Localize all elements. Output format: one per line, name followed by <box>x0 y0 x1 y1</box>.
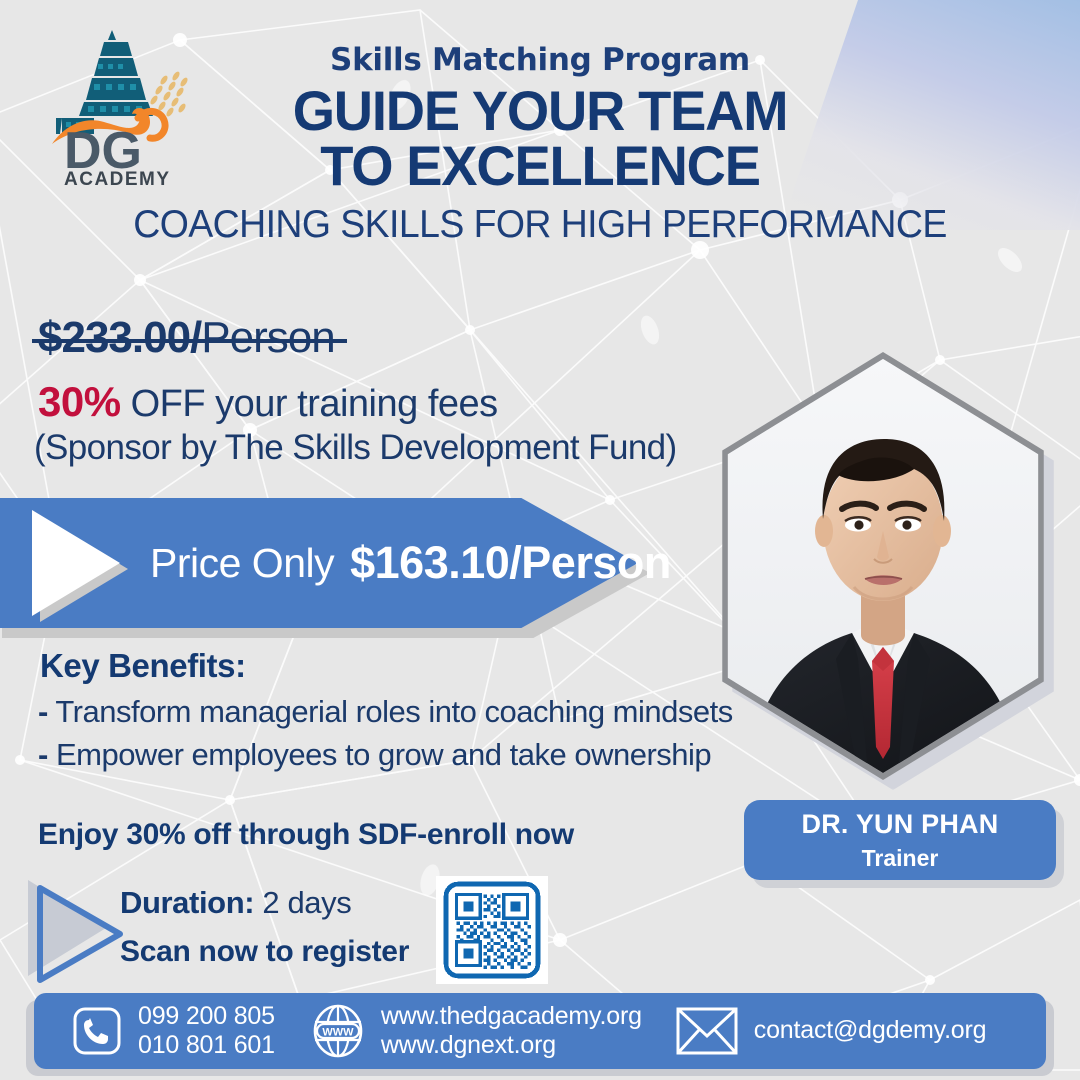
original-price: $233.00/Person <box>38 313 335 363</box>
duration-row: Duration: 2 days <box>120 885 351 921</box>
price-banner[interactable]: Price Only $163.10/Person <box>0 498 670 638</box>
trainer-photo <box>712 352 1064 792</box>
phone-icon <box>72 1006 122 1056</box>
globe-www-label: WWW <box>322 1027 354 1039</box>
page-title: GUIDE YOUR TEAM TO EXCELLENCE <box>16 84 1064 194</box>
title-line-2: TO EXCELLENCE <box>16 139 1064 194</box>
page-subtitle: COACHING SKILLS FOR HIGH PERFORMANCE <box>22 203 1059 247</box>
original-price-unit: Person <box>201 313 334 362</box>
price-banner-label: Price Only <box>150 540 334 587</box>
title-line-1: GUIDE YOUR TEAM <box>293 79 788 142</box>
price-banner-text: Price Only $163.10/Person <box>150 498 671 628</box>
envelope-icon <box>676 1006 738 1056</box>
trainer-role: Trainer <box>862 845 939 872</box>
benefit-text: Empower employees to grow and take owner… <box>56 737 711 772</box>
footer-email-text: contact@dgdemy.org <box>754 1016 987 1046</box>
website-1: www.thedgacademy.org <box>381 1002 642 1032</box>
play-triangle-icon <box>32 510 120 616</box>
benefit-text: Transform managerial roles into coaching… <box>55 694 732 729</box>
scan-label: Scan now to register <box>120 935 409 969</box>
phone-number-1: 099 200 805 <box>138 1002 275 1032</box>
key-benefits-list: - Transform managerial roles into coachi… <box>38 692 768 778</box>
globe-icon: WWW <box>309 1002 367 1060</box>
duration-label: Duration: <box>120 885 254 920</box>
bullet-dash-icon: - <box>38 737 48 772</box>
original-price-amount: $233.00/ <box>38 313 201 362</box>
discount-line: 30% OFF your training fees <box>38 378 498 426</box>
qr-code-icon <box>441 881 543 979</box>
qr-code[interactable] <box>436 876 548 984</box>
key-benefits-heading: Key Benefits: <box>40 647 246 685</box>
footer-bar: 099 200 805 010 801 601 WWW www.thedga <box>34 993 1046 1069</box>
strikethrough-line <box>32 339 347 343</box>
footer-email-group[interactable]: contact@dgdemy.org <box>676 1006 987 1056</box>
duration-triangle-icon <box>36 884 128 984</box>
trainer-name: DR. YUN PHAN <box>802 809 999 840</box>
footer-web-group[interactable]: WWW www.thedgacademy.org www.dgnext.org <box>309 1002 642 1061</box>
discount-percent: 30% <box>38 378 121 425</box>
sponsor-note: (Sponsor by The Skills Development Fund) <box>34 428 677 468</box>
benefits-cta: Enjoy 30% off through SDF-enroll now <box>38 818 574 852</box>
program-kicker: Skills Matching Program <box>0 42 1080 78</box>
poster-canvas: DG ACADEMY Skills Matching Program GUIDE… <box>0 0 1080 1080</box>
list-item: - Transform managerial roles into coachi… <box>38 692 768 733</box>
footer-phone-text: 099 200 805 010 801 601 <box>138 1002 275 1061</box>
list-item: - Empower employees to grow and take own… <box>38 735 768 776</box>
price-banner-value: $163.10/Person <box>350 537 671 589</box>
footer-web-text: www.thedgacademy.org www.dgnext.org <box>381 1002 642 1061</box>
email-address: contact@dgdemy.org <box>754 1016 987 1046</box>
duration-value: 2 days <box>254 885 351 920</box>
discount-text: OFF your training fees <box>121 383 498 425</box>
footer-phone-group[interactable]: 099 200 805 010 801 601 <box>72 1002 275 1061</box>
trainer-badge: DR. YUN PHAN Trainer <box>744 800 1056 880</box>
phone-number-2: 010 801 601 <box>138 1031 275 1061</box>
website-2: www.dgnext.org <box>381 1031 642 1061</box>
bullet-dash-icon: - <box>38 694 48 729</box>
